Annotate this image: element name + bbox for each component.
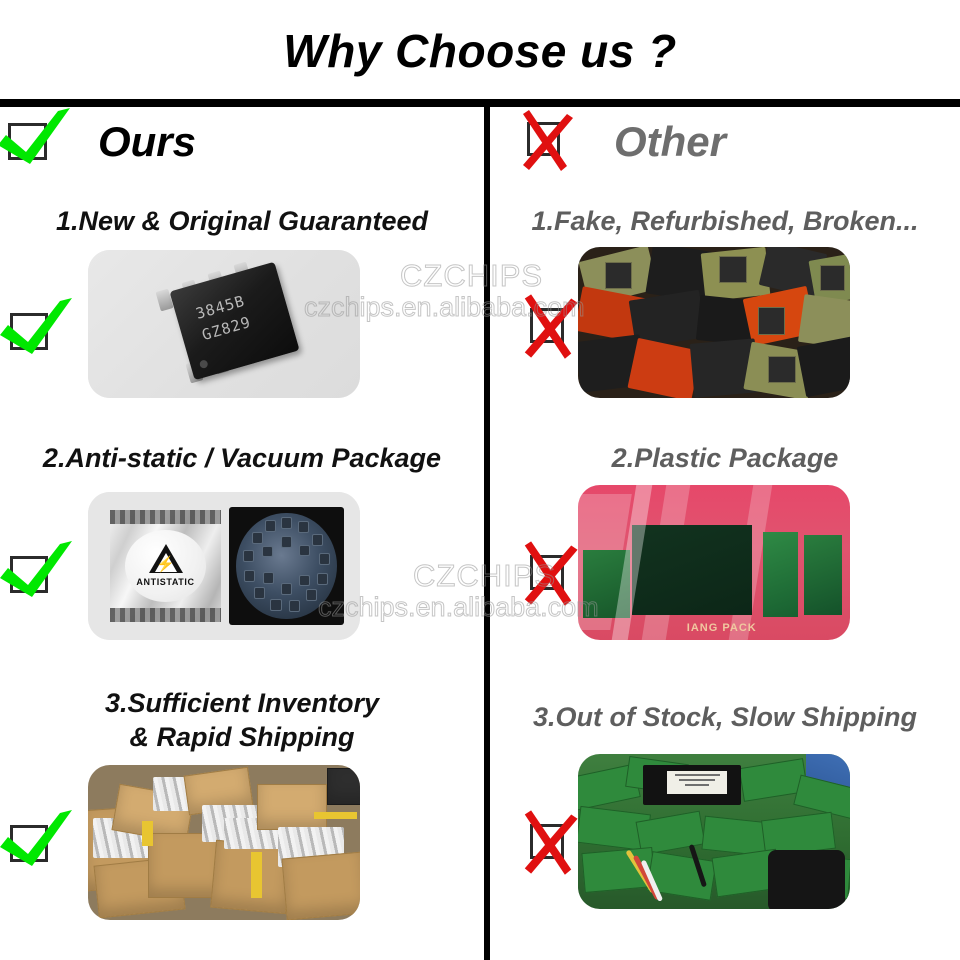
row-2-ours-title: 2.Anti-static / Vacuum Package (0, 441, 484, 475)
antistatic-package-scene: ⚡ ANTISTATIC (88, 492, 360, 640)
row-2-other-photo: IANG PACK (578, 485, 850, 640)
check-mark-icon (0, 297, 88, 367)
why-choose-us-infographic: Why Choose us ? Ours Other 1.New & Origi… (0, 0, 960, 960)
column-label-other: Other (490, 110, 960, 174)
antistatic-label: ANTISTATIC (136, 577, 194, 587)
chip-pin1-dot (199, 359, 209, 369)
bag-crimp-bottom (110, 608, 222, 623)
chip-photo-scene: 3845B GZ829 (88, 250, 360, 398)
row-3-ours-photo (88, 765, 360, 920)
column-label-ours: Ours (0, 110, 484, 174)
pack-text: IANG PACK (687, 622, 757, 634)
check-mark-icon (0, 809, 88, 879)
row-3-other: 3.Out of Stock, Slow Shipping (490, 696, 960, 956)
header-divider (0, 99, 960, 107)
row-1-ours: 1.New & Original Guaranteed 3845B (0, 200, 484, 410)
column-header-other: Other (490, 110, 960, 180)
row-2-cross-mark-box (530, 555, 564, 590)
lightning-bolt-icon: ⚡ (156, 557, 175, 572)
row-1-cross-mark-box (530, 308, 564, 343)
cross-mark-icon (510, 535, 586, 611)
column-header-ours: Ours (0, 110, 484, 180)
reel-inside-bag: ⚡ ANTISTATIC (125, 530, 205, 602)
cross-mark-icon (510, 288, 586, 364)
reel-disc (236, 513, 337, 620)
row-2-ours-photo: ⚡ ANTISTATIC (88, 492, 360, 640)
row-1-check-mark-box (10, 313, 48, 350)
plastic-package-scene: IANG PACK (578, 485, 850, 640)
row-1-ours-title: 1.New & Original Guaranteed (0, 204, 484, 238)
check-mark-icon (0, 540, 88, 610)
row-3-cross-mark-box (530, 824, 564, 859)
cross-mark-icon (510, 804, 586, 880)
row-1-other: 1.Fake, Refurbished, Broken... (490, 200, 960, 410)
fake-chips-scene (578, 247, 850, 398)
black-reel-tray (229, 507, 343, 625)
row-3-ours: 3.Sufficient Inventory & Rapid Shipping (0, 682, 484, 942)
row-3-ours-title-line2: & Rapid Shipping (0, 720, 484, 754)
antistatic-bag: ⚡ ANTISTATIC (110, 510, 222, 622)
module-label (667, 771, 728, 794)
bag-crimp-top (110, 510, 222, 525)
row-1-other-title: 1.Fake, Refurbished, Broken... (490, 204, 960, 238)
inventory-boxes-scene (88, 765, 360, 920)
row-3-ours-title-line1: 3.Sufficient Inventory (0, 686, 484, 720)
row-1-ours-photo: 3845B GZ829 (88, 250, 360, 398)
row-3-other-title: 3.Out of Stock, Slow Shipping (490, 700, 960, 734)
black-module (643, 765, 741, 805)
scrap-pcb-scene (578, 754, 850, 909)
page-title: Why Choose us ? (0, 24, 960, 78)
row-3-other-photo (578, 754, 850, 909)
row-2-check-mark-box (10, 556, 48, 593)
row-2-other: 2.Plastic Package IANG PACK (490, 437, 960, 647)
row-1-other-photo (578, 247, 850, 398)
row-3-check-mark-box (10, 825, 48, 862)
large-pcb (632, 525, 752, 615)
row-2-other-title: 2.Plastic Package (490, 441, 960, 475)
row-2-ours: 2.Anti-static / Vacuum Package ⚡ ANTI (0, 437, 484, 647)
